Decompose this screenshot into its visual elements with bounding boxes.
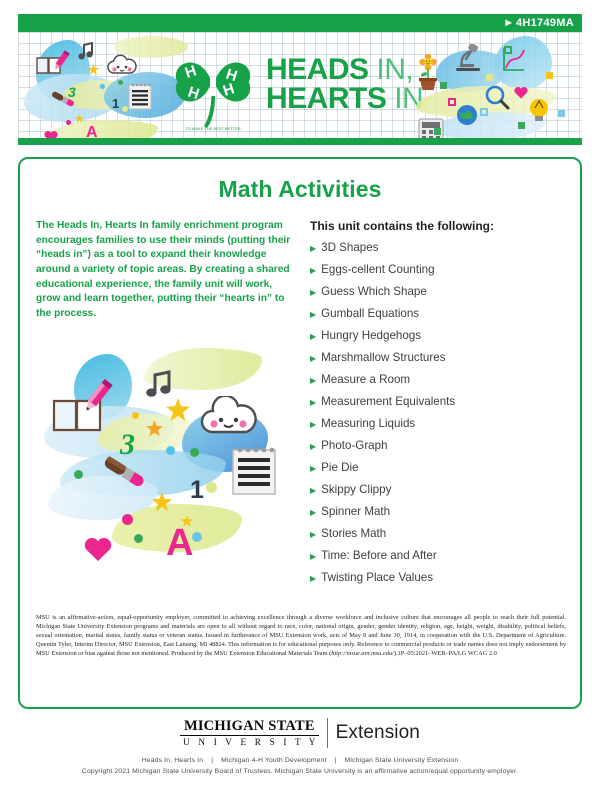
list-item-label: Pie Die xyxy=(321,462,358,474)
star-icon-illus-2 xyxy=(146,420,163,442)
square-outline-green xyxy=(504,46,512,54)
four-h-clover-icon: H H H H TO MAKE THE BEST BETTER xyxy=(170,38,256,132)
list-item-label: Skippy Clippy xyxy=(321,484,391,496)
list-item[interactable]: ▶Measuring Liquids xyxy=(310,418,564,430)
list-item[interactable]: ▶3D Shapes xyxy=(310,242,564,254)
heart-icon-right xyxy=(514,86,528,104)
svg-text:TO MAKE THE BEST BETTER: TO MAKE THE BEST BETTER xyxy=(185,126,240,131)
extension-label: Extension xyxy=(336,722,420,744)
triangle-right-icon: ▶ xyxy=(310,245,316,253)
list-item-label: Photo-Graph xyxy=(321,440,387,452)
two-column-layout: The Heads In, Hearts In family enrichmen… xyxy=(20,203,580,594)
credit-separator: | xyxy=(205,757,219,764)
header-banner: ▶ 4H1749MA xyxy=(18,14,582,145)
unit-contents-heading: This unit contains the following: xyxy=(310,219,564,233)
triangle-right-icon: ▶ xyxy=(310,377,316,385)
list-item[interactable]: ▶Twisting Place Values xyxy=(310,572,564,584)
dot-green-1 xyxy=(118,80,123,85)
msu-wordmark: MICHIGAN STATE U N I V E R S I T Y xyxy=(180,719,319,747)
dot-cyan-illus xyxy=(166,446,175,455)
notepad-icon-large xyxy=(231,444,277,501)
list-item-label: Stories Math xyxy=(321,528,386,540)
letter-a-text: A xyxy=(86,124,98,138)
list-item[interactable]: ▶Measurement Equivalents xyxy=(310,396,564,408)
list-item-label: Eggs-cellent Counting xyxy=(321,264,434,276)
square-green-2 xyxy=(434,128,441,135)
publication-id: ▶ 4H1749MA xyxy=(506,17,583,29)
legal-disclaimer: MSU is an affirmative-action, equal-oppo… xyxy=(36,614,566,658)
math-illustration: 3 1 A xyxy=(36,336,291,581)
smiling-cloud-icon xyxy=(106,54,138,83)
dot-pink-1 xyxy=(66,120,71,125)
intro-paragraph: The Heads In, Hearts In family enrichmen… xyxy=(36,219,296,322)
logo-divider xyxy=(327,718,328,748)
left-column: The Heads In, Hearts In family enrichmen… xyxy=(36,219,296,594)
footer-credits: Heads In, Hearts In | Michigan 4-H Youth… xyxy=(0,757,600,764)
triangle-right-icon: ▶ xyxy=(310,553,316,561)
triangle-right-icon: ▶ xyxy=(310,531,316,539)
triangle-right-icon: ▶ xyxy=(310,267,316,275)
main-content-card: Math Activities The Heads In, Hearts In … xyxy=(18,157,582,709)
dot-pink-illus xyxy=(122,514,133,525)
square-magenta-1 xyxy=(518,122,525,129)
triangle-right-icon: ▶ xyxy=(310,355,316,363)
triangle-right-icon: ▶ xyxy=(310,509,316,517)
list-item[interactable]: ▶Photo-Graph xyxy=(310,440,564,452)
list-item[interactable]: ▶Hungry Hedgehogs xyxy=(310,330,564,342)
triangle-right-icon: ▶ xyxy=(310,311,316,319)
banner-grid-background: 3 1 A xyxy=(18,32,582,138)
disclaimer-url: http://msue.anr.msu.edu/ xyxy=(331,650,394,657)
square-orange-1 xyxy=(546,72,553,79)
pink-pencil-icon xyxy=(51,50,71,77)
list-item-label: Spinner Math xyxy=(321,506,390,518)
wordmark-line-1: HEADS IN, xyxy=(266,56,423,85)
star-icon-illus-4 xyxy=(181,514,193,532)
credit-1: Heads In, Hearts In xyxy=(142,757,203,764)
list-item-label: Twisting Place Values xyxy=(321,572,433,584)
dot-cyan-illus-2 xyxy=(192,532,202,542)
number-1-illus: 1 xyxy=(190,476,204,505)
lightbulb-icon xyxy=(528,98,550,129)
credit-3: Michigan State University Extension xyxy=(345,757,459,764)
flower-pot-icon xyxy=(416,54,440,99)
banner-bottom-bar xyxy=(18,138,582,145)
unit-contents-list: ▶3D Shapes ▶Eggs-cellent Counting ▶Guess… xyxy=(310,242,564,583)
footer-copyright: Copyright 2021 Michigan State University… xyxy=(0,768,600,775)
triangle-right-icon: ▶ xyxy=(310,421,316,429)
list-item-label: Hungry Hedgehogs xyxy=(321,330,421,342)
list-item-label: 3D Shapes xyxy=(321,242,378,254)
blob-lime-left-2 xyxy=(48,120,158,138)
credit-separator: | xyxy=(329,757,343,764)
square-lime-1 xyxy=(486,74,493,81)
dot-green-illus xyxy=(190,448,199,457)
list-item[interactable]: ▶Guess Which Shape xyxy=(310,286,564,298)
credit-2: Michigan 4-H Youth Development xyxy=(221,757,326,764)
notepad-icon xyxy=(128,82,152,115)
square-green-1 xyxy=(440,82,447,89)
triangle-right-icon: ▶ xyxy=(310,289,316,297)
list-item[interactable]: ▶Stories Math xyxy=(310,528,564,540)
triangle-right-icon: ▶ xyxy=(506,19,512,27)
dot-green-illus-2 xyxy=(74,470,83,479)
heart-icon-illus xyxy=(84,536,112,567)
list-item[interactable]: ▶Marshmallow Structures xyxy=(310,352,564,364)
triangle-right-icon: ▶ xyxy=(310,465,316,473)
triangle-right-icon: ▶ xyxy=(310,487,316,495)
square-outline-pink xyxy=(448,98,456,106)
triangle-right-icon: ▶ xyxy=(310,333,316,341)
msu-line-1: MICHIGAN STATE xyxy=(180,719,319,736)
right-column: This unit contains the following: ▶3D Sh… xyxy=(310,219,564,594)
triangle-right-icon: ▶ xyxy=(310,443,316,451)
dot-cyan-1 xyxy=(100,84,105,89)
msu-line-2: U N I V E R S I T Y xyxy=(180,736,319,747)
wordmark-line-2: HEARTS IN xyxy=(266,85,423,114)
square-blue-1 xyxy=(558,110,565,117)
list-item-label: Measuring Liquids xyxy=(321,418,415,430)
publication-id-text: 4H1749MA xyxy=(516,17,574,29)
list-item-label: Measurement Equivalents xyxy=(321,396,455,408)
list-item[interactable]: ▶Eggs-cellent Counting xyxy=(310,264,564,276)
list-item[interactable]: ▶Measure a Room xyxy=(310,374,564,386)
number-3-illus: 3 xyxy=(120,428,135,462)
dot-yellow-illus xyxy=(132,412,139,419)
disclaimer-tail: ).1P–05:2021–WEB–PA/LG WCAG 2.0 xyxy=(394,650,497,657)
pink-pencil-icon-large xyxy=(80,378,114,421)
list-item-label: Marshmallow Structures xyxy=(321,352,445,364)
list-item[interactable]: ▶Time: Before and After xyxy=(310,550,564,562)
microscope-icon xyxy=(452,44,486,81)
list-item[interactable]: ▶Gumball Equations xyxy=(310,308,564,320)
list-item[interactable]: ▶Pie Die xyxy=(310,462,564,474)
number-1-text: 1 xyxy=(112,96,119,111)
list-item-label: Time: Before and After xyxy=(321,550,437,562)
star-icon-illus-1 xyxy=(166,398,190,427)
msu-extension-logo: MICHIGAN STATE U N I V E R S I T Y Exten… xyxy=(0,718,600,748)
list-item[interactable]: ▶Skippy Clippy xyxy=(310,484,564,496)
star-icon-1 xyxy=(88,62,99,80)
publication-id-bar: ▶ 4H1749MA xyxy=(18,14,582,32)
square-outline-teal xyxy=(480,108,488,116)
star-icon-illus-3 xyxy=(152,492,172,517)
dot-lime-illus xyxy=(206,482,217,493)
list-item-label: Gumball Equations xyxy=(321,308,419,320)
heads-in-hearts-in-logo: H H H H TO MAKE THE BEST BETTER HEADS IN… xyxy=(170,38,423,132)
number-3-text: 3 xyxy=(68,84,76,100)
smiling-cloud-icon-large xyxy=(198,396,260,443)
heart-icon xyxy=(44,130,58,138)
list-item[interactable]: ▶Spinner Math xyxy=(310,506,564,518)
globe-icon xyxy=(456,104,478,131)
triangle-right-icon: ▶ xyxy=(310,575,316,583)
list-item-label: Measure a Room xyxy=(321,374,410,386)
triangle-right-icon: ▶ xyxy=(310,399,316,407)
dot-lime-1 xyxy=(122,106,128,112)
dot-green-illus-3 xyxy=(134,534,143,543)
star-icon-2 xyxy=(75,110,84,128)
list-item-label: Guess Which Shape xyxy=(321,286,427,298)
page-title: Math Activities xyxy=(20,176,580,203)
